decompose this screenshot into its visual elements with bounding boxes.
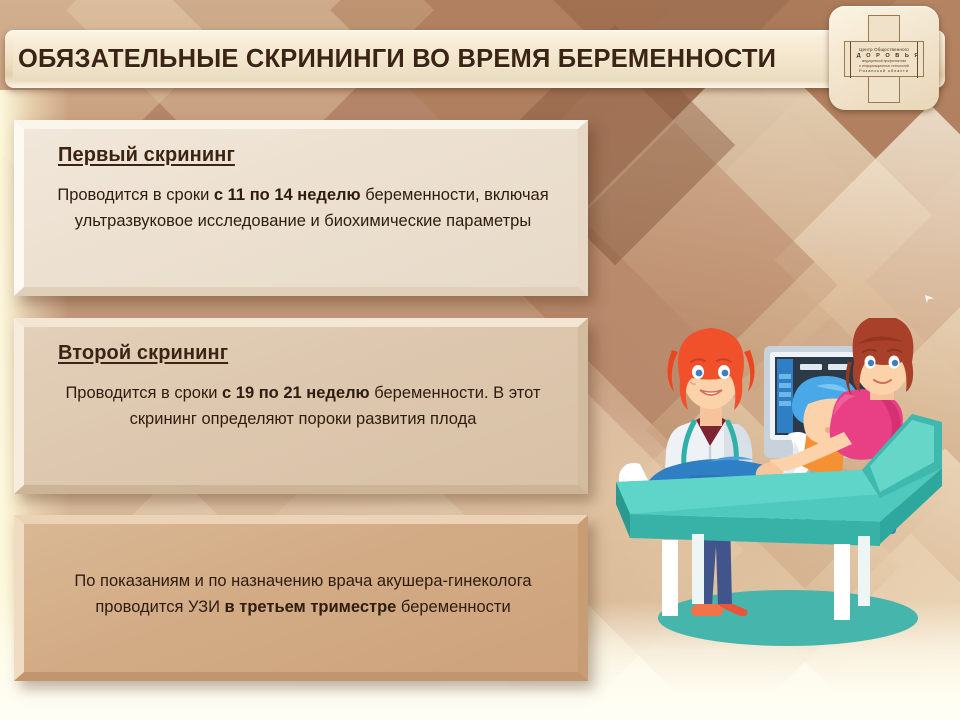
card-body-text-part1: Проводится в сроки: [65, 384, 222, 402]
table-leg-front-left: [662, 540, 678, 616]
table-leg-front-right: [834, 544, 850, 620]
doctor-pupil-left: [696, 370, 703, 377]
medical-cross-icon: Центр Общественного З Д О Р О В Ь Я меди…: [844, 15, 924, 103]
card-body: Проводится в сроки с 11 по 14 неделю бер…: [38, 183, 568, 234]
card-body: Проводится в сроки с 19 по 21 неделю бер…: [38, 381, 568, 432]
doctor-shoe-left: [691, 604, 724, 616]
card-content: Первый скрининг Проводится в сроки с 11 …: [38, 134, 568, 286]
doctor-hair-curl-right: [744, 350, 755, 392]
patient-pupil-right: [892, 360, 898, 366]
card-heading: Второй скрининг: [58, 342, 568, 365]
card-body-highlight: в третьем триместре: [225, 598, 397, 616]
card-body-text-part2: беременности: [396, 598, 510, 616]
logo-line-4: и информационных технологий: [859, 64, 909, 68]
card-body-highlight: с 11 по 14 неделю: [214, 186, 361, 204]
logo-line-3: медицинской профилактики: [862, 59, 906, 63]
screening-card-third: По показаниям и по назначению врача акуш…: [14, 515, 588, 681]
logo-line-5: Рязанской области: [859, 68, 909, 73]
table-leg-back-right: [858, 536, 870, 606]
patient-pupil-left: [868, 360, 874, 366]
logo-text-block: Центр Общественного З Д О Р О В Ь Я меди…: [850, 42, 918, 78]
logo-line-1: Центр Общественного: [859, 47, 909, 52]
slide-root: ОБЯЗАТЕЛЬНЫЕ СКРИНИНГИ ВО ВРЕМЯ БЕРЕМЕНН…: [0, 0, 960, 720]
ultrasound-scene-illustration: [612, 318, 960, 666]
doctor-hair-curl-left: [667, 350, 678, 392]
organization-logo: Центр Общественного З Д О Р О В Ь Я меди…: [829, 6, 939, 110]
screening-card-second: Второй скрининг Проводится в сроки с 19 …: [14, 318, 588, 494]
screening-card-first: Первый скрининг Проводится в сроки с 11 …: [14, 120, 588, 296]
card-body-highlight: с 19 по 21 неделю: [222, 384, 370, 402]
doctor-pupil-right: [722, 370, 729, 377]
table-leg-back-left: [692, 534, 704, 604]
card-content: По показаниям и по назначению врача акуш…: [38, 529, 568, 671]
page-title: ОБЯЗАТЕЛЬНЫЕ СКРИНИНГИ ВО ВРЕМЯ БЕРЕМЕНН…: [18, 36, 818, 82]
card-body-text-part1: Проводится в сроки: [57, 186, 214, 204]
card-content: Второй скрининг Проводится в сроки с 19 …: [38, 332, 568, 484]
card-body: По показаниям и по назначению врача акуш…: [38, 569, 568, 620]
card-heading: Первый скрининг: [58, 144, 568, 167]
logo-line-2: З Д О Р О В Ь Я: [850, 53, 918, 59]
